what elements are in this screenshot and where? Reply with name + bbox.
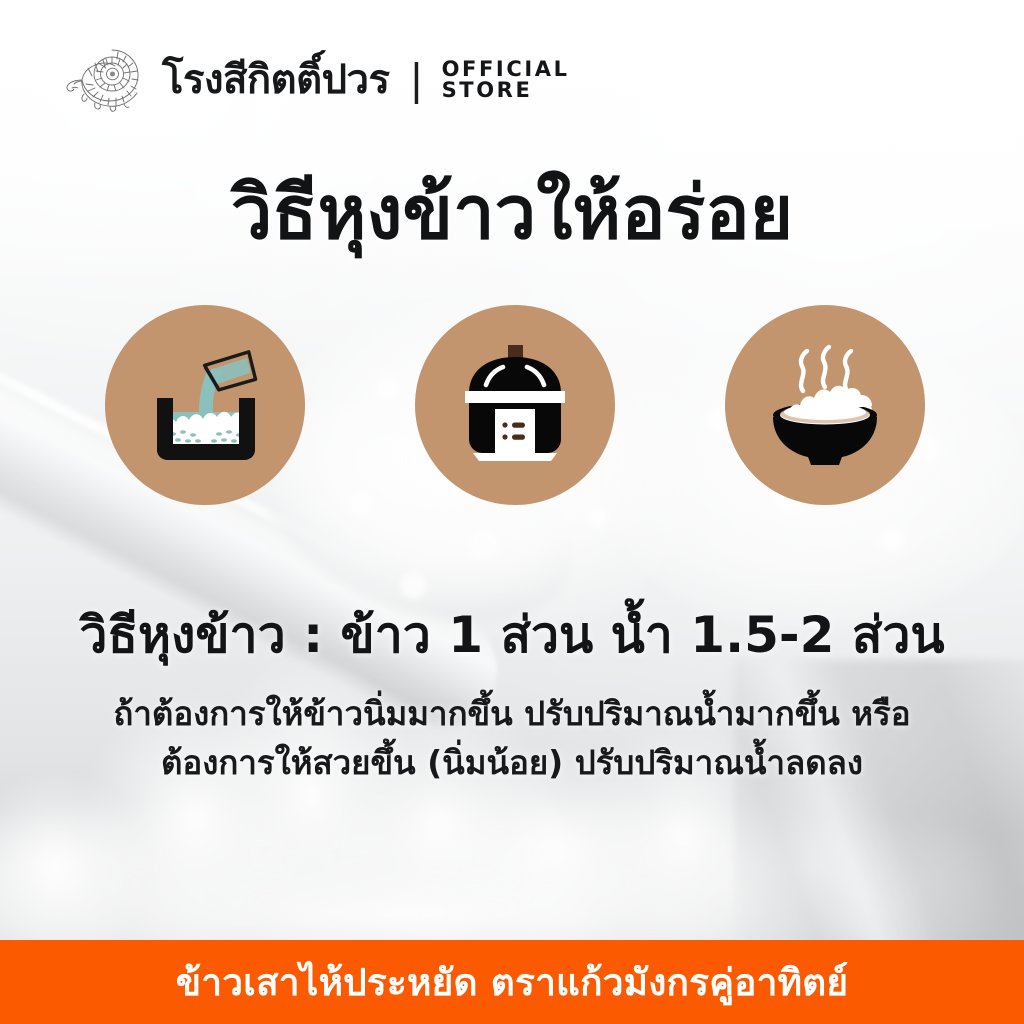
step-circle-serve-bowl (725, 305, 925, 505)
brand-name-th: โรงสีกิตติ์ปวร (162, 60, 389, 100)
rice-cooker-icon (451, 343, 579, 467)
page-title: วิธีหุงข้าวให้อร่อย (0, 172, 1024, 255)
footer-banner-text: ข้าวเสาไห้ประหยัด ตราแก้วมังกรคู่อาทิตย์ (176, 964, 849, 1001)
cooking-ratio-line: วิธีหุงข้าว : ข้าว 1 ส่วน น้ำ 1.5-2 ส่วน (0, 606, 1024, 665)
brand-logo: โรงสีกิตติ์ปวร | OFFICIAL STORE (62, 44, 570, 116)
steps-row (105, 305, 925, 505)
brand-official-line2: STORE (442, 80, 570, 101)
brand-official-store: OFFICIAL STORE (442, 59, 570, 102)
description-line-1: ถ้าต้องการให้ข้าวนิ่มมากขึ้น ปรับปริมาณน… (0, 690, 1024, 739)
description-line-2: ต้องการให้สวยขึ้น (นิ่มน้อย) ปรับปริมาณน… (0, 739, 1024, 788)
description-block: ถ้าต้องการให้ข้าวนิ่มมากขึ้น ปรับปริมาณน… (0, 690, 1024, 788)
nautilus-shell-icon (62, 44, 148, 116)
brand-official-line1: OFFICIAL (442, 59, 570, 80)
pouring-water-into-pot-icon (139, 346, 271, 464)
footer-banner: ข้าวเสาไห้ประหยัด ตราแก้วมังกรคู่อาทิตย์ (0, 940, 1024, 1024)
brand-separator: | (409, 59, 423, 101)
step-circle-wash-water (105, 305, 305, 505)
steaming-rice-bowl-icon (757, 341, 893, 469)
infographic-canvas: โรงสีกิตติ์ปวร | OFFICIAL STORE วิธีหุงข… (0, 0, 1024, 1024)
step-circle-rice-cooker (415, 305, 615, 505)
